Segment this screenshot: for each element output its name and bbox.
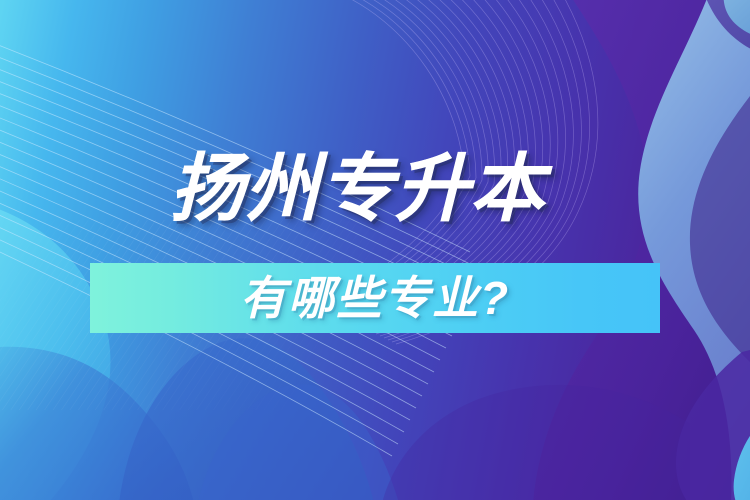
page-subtitle: 有哪些专业? [90,263,660,333]
page-title: 扬州专升本 [170,152,545,226]
headline-group: 扬州专升本 有哪些专业? [0,0,750,500]
subtitle-highlight-bar: 有哪些专业? [90,263,660,333]
promo-banner: 扬州专升本 有哪些专业? [0,0,750,500]
